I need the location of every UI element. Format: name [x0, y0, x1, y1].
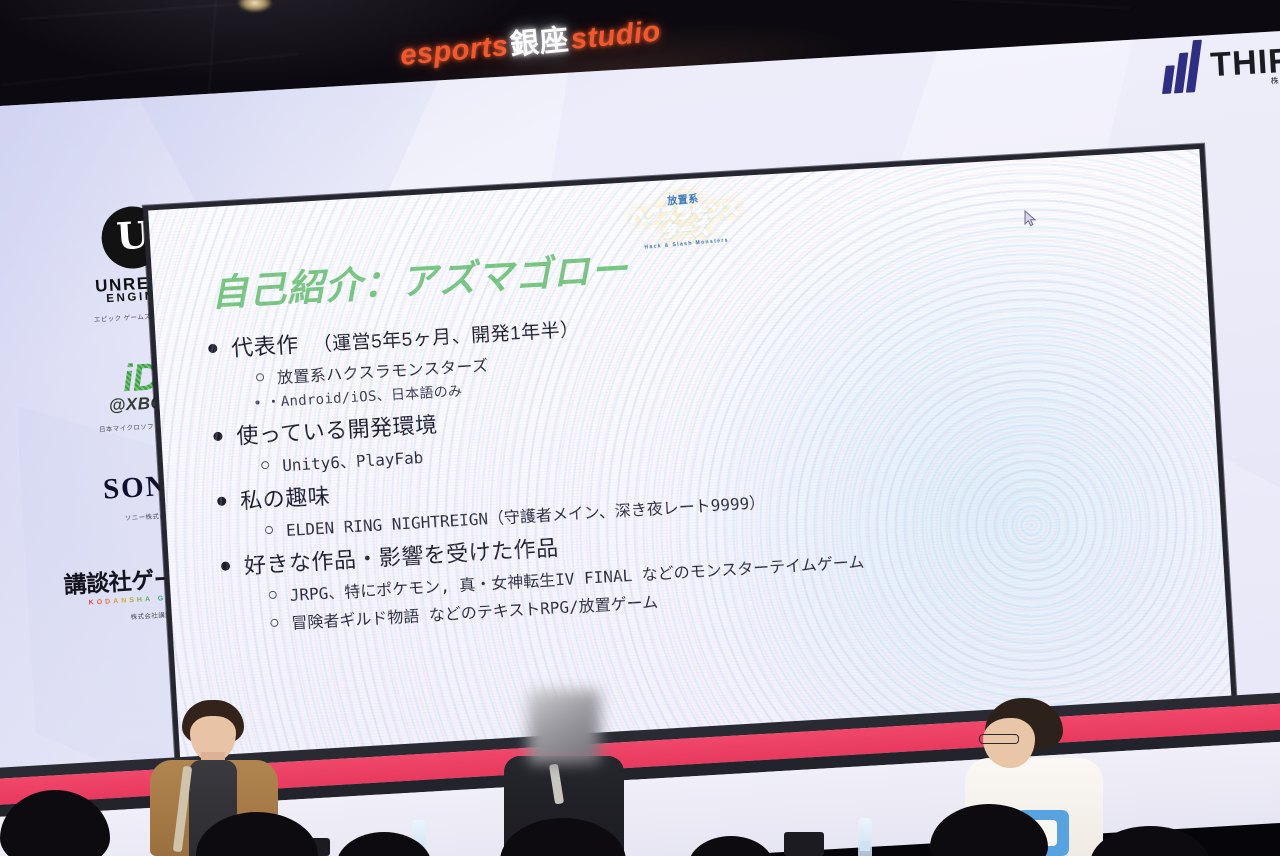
- bullet-level2-label: Unity6、PlayFab: [281, 444, 423, 476]
- ceiling-beam: [20, 2, 240, 20]
- ceiling-lamp: [238, 0, 272, 12]
- venue-sign-studio: studio: [569, 16, 662, 56]
- mouse-cursor-icon: [1024, 210, 1037, 228]
- panelist-right-glasses: [979, 734, 1019, 744]
- game-title-logo: 放置系 ハクスラモンスターズ Hack & Slash Monsters: [622, 186, 746, 244]
- bullet-ring-icon: [261, 461, 269, 469]
- speaker-center-blurred-face: [528, 690, 600, 764]
- water-bottle: [858, 818, 872, 856]
- bullet-level1-label: 私の趣味: [239, 478, 331, 515]
- bullet-ring-icon: [265, 526, 273, 534]
- bullet-ring-icon: [269, 591, 277, 599]
- photo-scene: esports銀座studio THIRDW 株式会社サードウェ n V U: [0, 0, 1280, 856]
- venue-sign-ginza: 銀座: [507, 24, 573, 62]
- ceiling-beam: [870, 0, 1130, 10]
- bullet-tick-icon: [255, 400, 259, 404]
- slide-bullet-list: 代表作 （運営5年5ヶ月、開発1年半） 放置系ハクスラモンスターズ ・Andro…: [207, 270, 1201, 638]
- table-prop: [784, 832, 824, 856]
- bullet-dot-icon: [221, 561, 231, 571]
- thirdwave-bars-icon: [1162, 40, 1202, 94]
- bullet-dot-icon: [217, 496, 227, 506]
- ceiling-beam: [1, 52, 300, 86]
- venue-sign-esports: esports: [399, 30, 510, 72]
- bullet-ring-icon: [256, 373, 264, 381]
- thirdwave-logo: THIRDW: [1164, 31, 1280, 94]
- bullet-dot-icon: [213, 432, 223, 442]
- bullet-dot-icon: [208, 344, 218, 354]
- bullet-ring-icon: [270, 619, 278, 627]
- bullet-level1-label: 代表作: [230, 327, 299, 363]
- thirdwave-wordmark: THIRDW: [1209, 37, 1280, 84]
